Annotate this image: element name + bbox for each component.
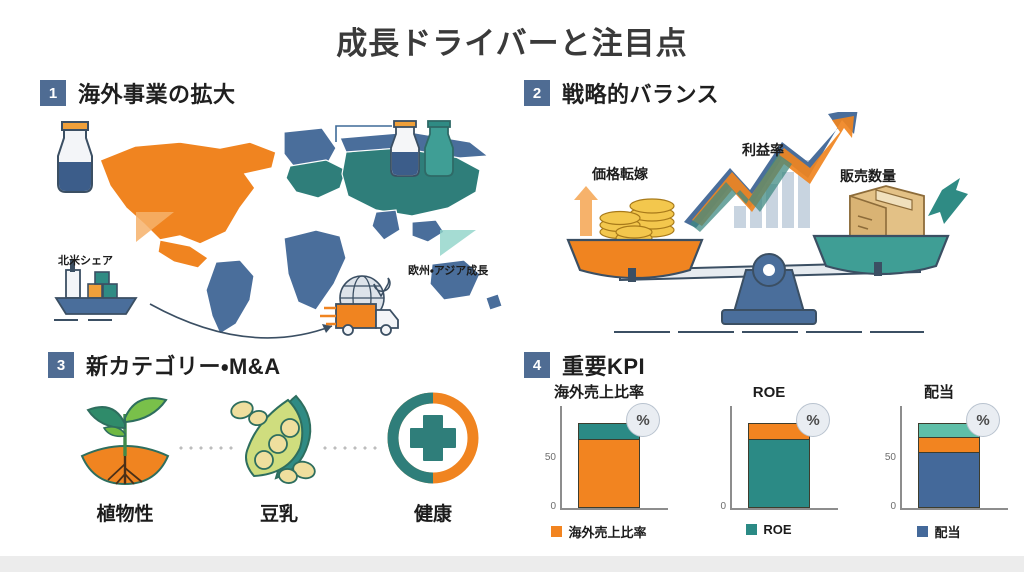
chart-title: 海外売上比率	[524, 382, 674, 404]
legend-label: ROE	[763, 522, 791, 537]
section-title: 海外事業の拡大	[78, 77, 236, 109]
y-tick-0: 0	[526, 501, 556, 512]
growth-arrow-icon	[684, 112, 858, 232]
category-item-health: 健康	[373, 390, 493, 526]
scale-base	[722, 310, 816, 324]
legend-label: 配当	[934, 522, 960, 541]
map-region-india	[372, 210, 400, 240]
volume-up-arrow-icon	[928, 178, 968, 224]
legend-swatch	[551, 526, 562, 537]
sprout-icon	[70, 390, 180, 490]
section-title: 戦略的バランス	[562, 77, 719, 109]
chart-plot-area: 0 %	[694, 406, 844, 516]
percent-badge: %	[626, 403, 660, 437]
section-title: 新カテゴリー・M&A	[86, 349, 281, 381]
soy-sauce-bottle-icon	[58, 122, 92, 192]
chart-legend: 配当	[864, 522, 1014, 541]
stacked-bar	[578, 423, 640, 508]
category-label: 植物性	[65, 499, 185, 526]
bar-segment	[919, 437, 979, 452]
soybean-pod-icon	[224, 390, 334, 490]
scale-pivot-hole	[763, 264, 775, 276]
section-strategic-balance: 2 戦略的バランス	[524, 78, 1014, 340]
bar-segment	[749, 439, 809, 507]
section-title: 重要KPI	[562, 349, 645, 381]
map-region-africa	[284, 230, 346, 310]
section-number-badge: 1	[40, 80, 66, 106]
category-label: 健康	[373, 499, 493, 526]
y-tick-0: 0	[866, 501, 896, 512]
section-header: 2 戦略的バランス	[524, 78, 1014, 112]
kpi-chart-row: 海外売上比率 0 50 % 海外売上比率 ROE	[524, 382, 1014, 550]
price-up-arrow-icon	[574, 186, 598, 236]
kpi-chart-dividend: 配当 0 50 % 配当	[864, 382, 1014, 550]
window-bottom-strip	[0, 556, 1024, 572]
y-tick-50: 50	[866, 452, 896, 463]
legend-swatch	[917, 526, 928, 537]
coin-stack-icon	[600, 199, 674, 244]
balance-illustration: 価格転嫁 利益率 販売数量	[524, 112, 1014, 340]
balance-label-price-pass-through: 価格転嫁	[592, 164, 648, 184]
section-header: 1 海外事業の拡大	[40, 78, 510, 112]
europe-asia-pointer-wedge	[440, 230, 476, 256]
chart-legend: 海外売上比率	[524, 522, 674, 541]
slide-canvas: 成長ドライバーと注目点 1 海外事業の拡大	[0, 0, 1024, 556]
scale-pan-right-stem	[874, 262, 882, 276]
map-label-europe-asia: 欧州・アジア成長	[408, 262, 488, 278]
page-title: 成長ドライバーと注目点	[0, 18, 1024, 63]
percent-badge: %	[966, 403, 1000, 437]
balance-label-sales-volume: 販売数量	[840, 166, 896, 186]
category-item-plant-based: 植物性	[65, 390, 185, 526]
section-header: 4 重要KPI	[524, 350, 1014, 384]
kpi-chart-roe: ROE 0 % ROE	[694, 382, 844, 550]
x-axis	[900, 508, 1008, 510]
x-axis	[560, 508, 668, 510]
stacked-bar	[918, 423, 980, 508]
map-region-southeast-asia	[412, 220, 444, 242]
chart-title: 配当	[864, 382, 1014, 404]
map-region-south-america	[206, 260, 254, 334]
y-tick-0: 0	[696, 501, 726, 512]
cargo-ship-icon	[54, 260, 136, 320]
y-axis	[560, 406, 562, 510]
section-key-kpi: 4 重要KPI 海外売上比率 0 50 % 海外売上比率	[524, 350, 1014, 550]
world-map-svg	[40, 112, 510, 340]
section-overseas-expansion: 1 海外事業の拡大	[40, 78, 510, 340]
chart-plot-area: 0 50 %	[864, 406, 1014, 516]
health-cross-icon	[378, 390, 488, 490]
map-region-europe	[286, 160, 346, 198]
chart-title: ROE	[694, 382, 844, 404]
scale-pan-left-stem	[628, 268, 636, 282]
y-tick-50: 50	[526, 452, 556, 463]
category-icon-row: 植物性 豆乳	[48, 390, 510, 550]
x-axis	[730, 508, 838, 510]
category-label: 豆乳	[219, 499, 339, 526]
map-label-north-america: 北米シェア	[58, 252, 113, 268]
y-axis	[900, 406, 902, 510]
category-item-soy-milk: 豆乳	[219, 390, 339, 526]
bar-segment	[919, 452, 979, 507]
chart-legend: ROE	[694, 522, 844, 537]
map-region-north-america	[100, 142, 276, 244]
kpi-chart-overseas-ratio: 海外売上比率 0 50 % 海外売上比率	[524, 382, 674, 550]
section-new-category-ma: 3 新カテゴリー・M&A 植物性	[48, 350, 510, 550]
section-number-badge: 2	[524, 80, 550, 106]
chart-plot-area: 0 50 %	[524, 406, 674, 516]
percent-badge: %	[796, 403, 830, 437]
section-number-badge: 4	[524, 352, 550, 378]
section-header: 3 新カテゴリー・M&A	[48, 350, 510, 384]
bar-segment	[579, 439, 639, 507]
world-map-illustration: 北米シェア 欧州・アジア成長	[40, 112, 510, 340]
legend-swatch	[746, 524, 757, 535]
legend-label: 海外売上比率	[568, 522, 646, 541]
balance-label-profit-margin: 利益率	[742, 140, 784, 160]
map-region-new-zealand	[486, 294, 502, 310]
section-number-badge: 3	[48, 352, 74, 378]
stacked-bar	[748, 423, 810, 508]
y-axis	[730, 406, 732, 510]
